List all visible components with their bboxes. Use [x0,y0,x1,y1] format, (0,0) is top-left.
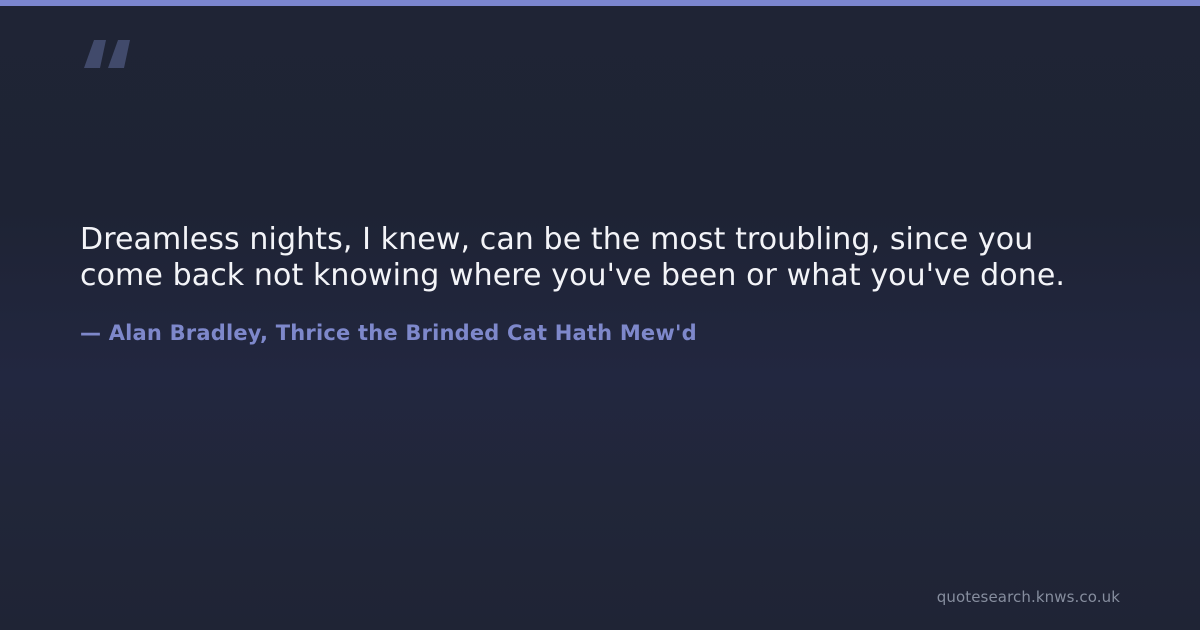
quote-card: Dreamless nights, I knew, can be the mos… [0,0,1200,630]
site-url-watermark: quotesearch.knws.co.uk [937,588,1120,606]
accent-top-bar [0,0,1200,6]
quote-content: Dreamless nights, I knew, can be the mos… [80,222,1120,347]
double-quote-open-icon [80,26,140,86]
quote-attribution: — Alan Bradley, Thrice the Brinded Cat H… [80,294,1120,347]
quote-text: Dreamless nights, I knew, can be the mos… [80,222,1120,294]
